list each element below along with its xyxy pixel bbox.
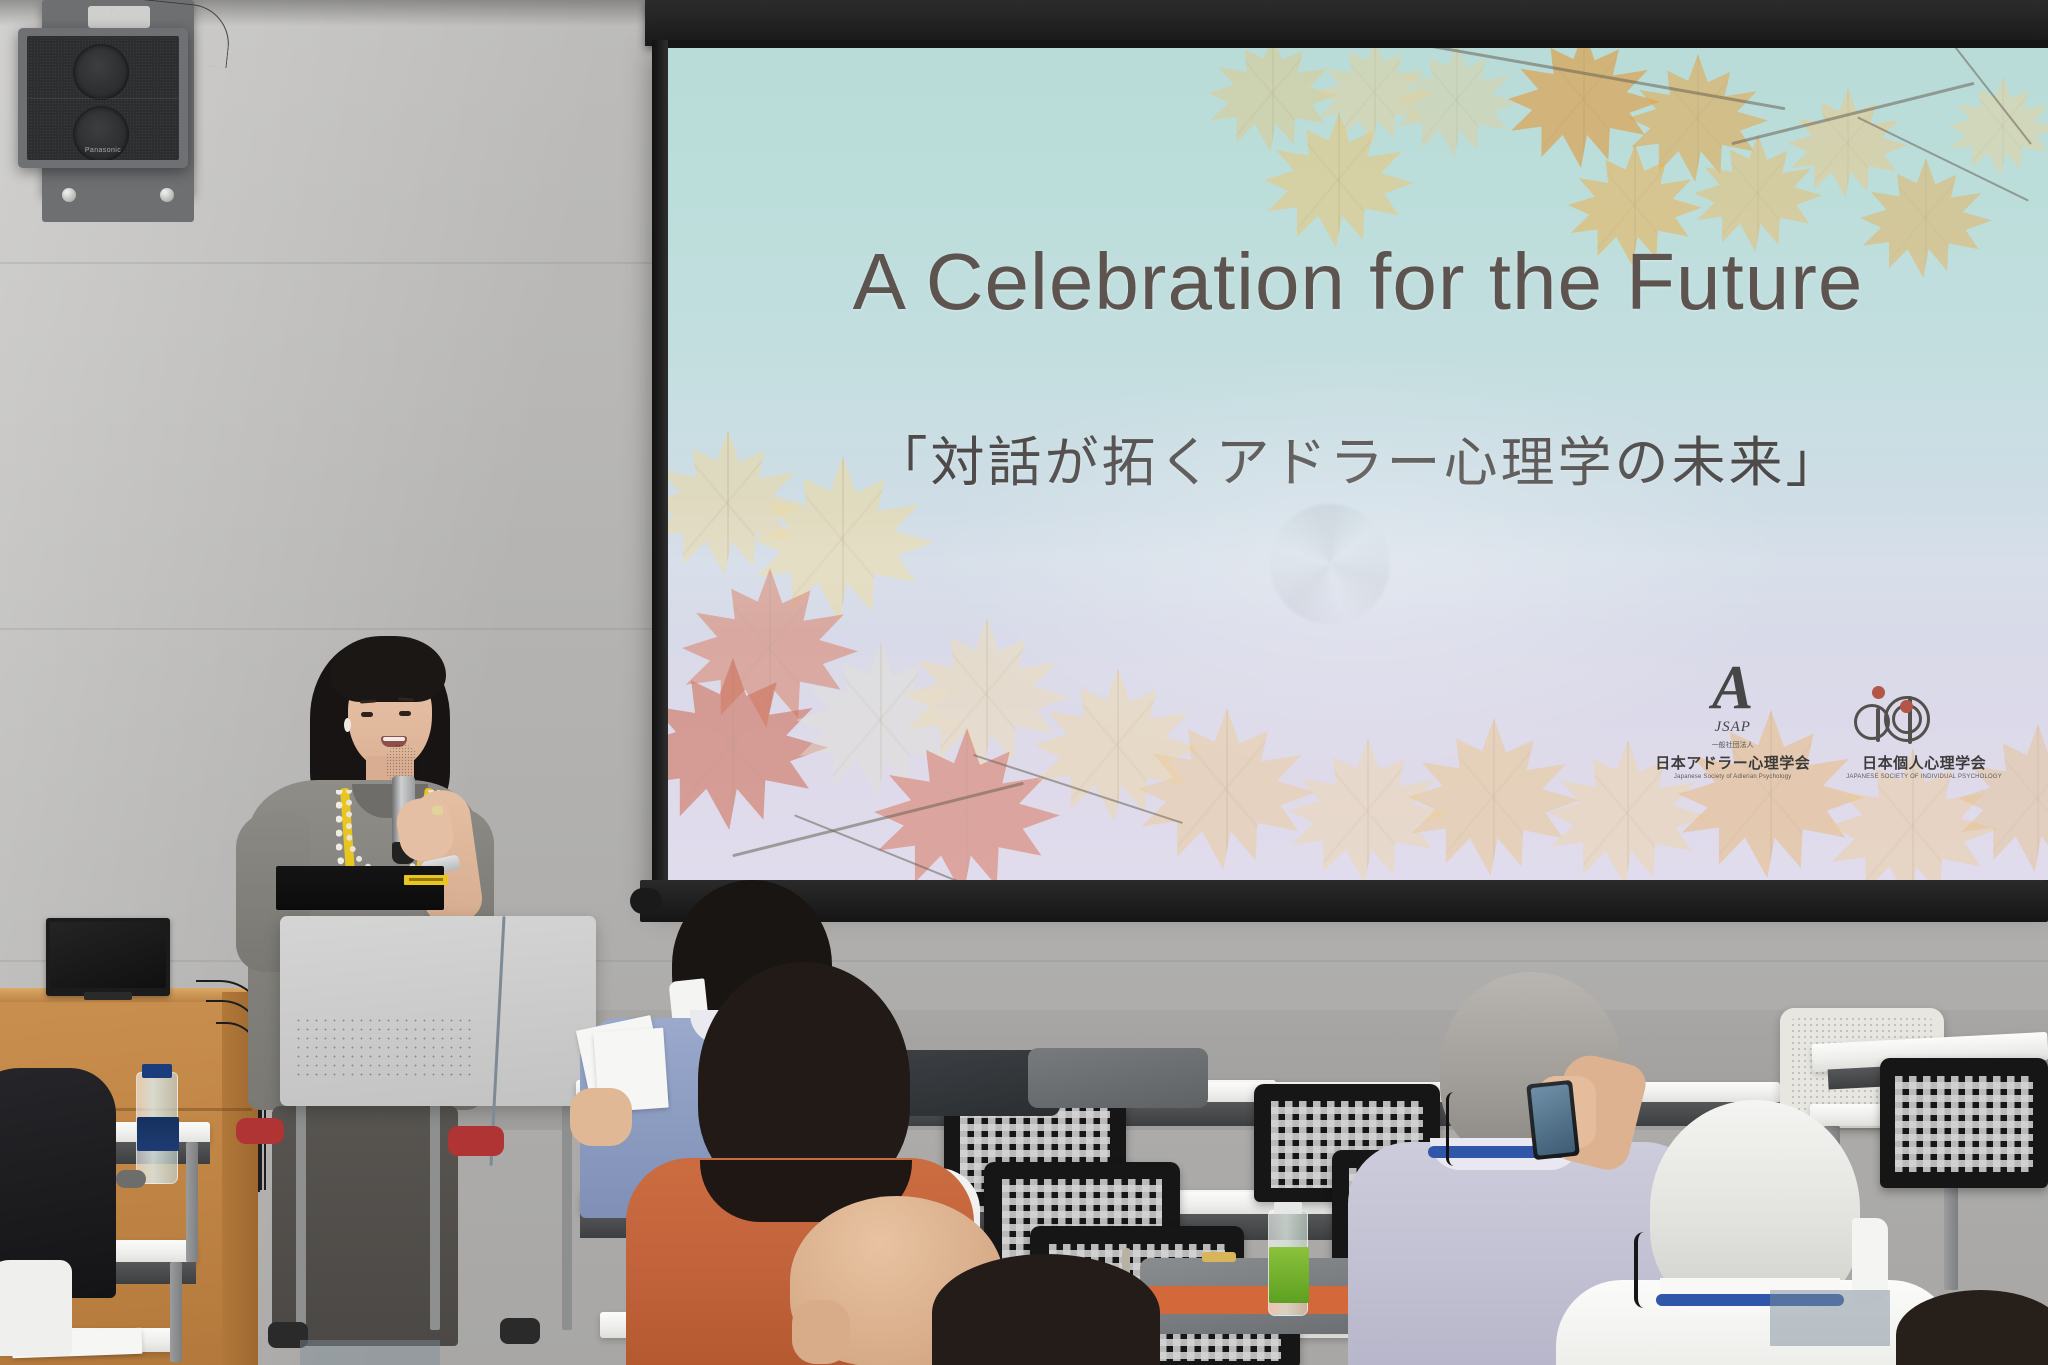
hand [570,1088,632,1146]
eyeglasses-temple-icon [1634,1232,1658,1308]
grille-divider [27,98,179,99]
presenter-eye-right [399,711,411,716]
jsap-name-jp: 日本アドラー心理学会 [1655,752,1810,773]
bag-orange-trim [1138,1286,1372,1314]
speaker-cabinet: Panasonic [18,28,188,168]
presenter-ring-icon [432,806,443,815]
bottle-label [137,1117,179,1151]
jsap-corporate-prefix: 一般社団法人 [1655,740,1810,750]
slide-subtitle: 「対話が拓くアドラー心理学の未来」 [668,418,2048,497]
foot-bolt [62,188,76,202]
jsap-a-mark-icon: A [1655,657,1810,719]
smartphone-icon[interactable] [1526,1080,1580,1160]
lectern-leg-left [296,1100,306,1330]
logo-jsip: 日本個人心理学会 JAPANESE SOCIETY OF INDIVIDUAL … [1846,686,2002,780]
jsip-spiral-mark-icon [1846,686,1942,748]
lectern-leg-right [562,1100,572,1330]
microphone-head-icon [386,744,418,780]
speaker-brand-label: Panasonic [85,147,121,154]
red-chair-seat [448,1126,504,1156]
lectern-caster-right [500,1318,540,1344]
foot-bolt [160,188,174,202]
red-chair-seat [236,1118,284,1144]
small-object-grey [116,1170,146,1188]
projected-slide: A Celebration for the Future 「対話が拓くアドラー心… [668,48,2048,880]
floor-carpet [1770,1290,1890,1346]
eyeglasses-temple-icon [1446,1092,1464,1166]
head-hair [932,1254,1160,1365]
jsap-letter-a: A [1712,657,1753,719]
jsap-abbrev: JSAP [1655,719,1810,736]
logo-jsap: A JSAP 一般社団法人 日本アドラー心理学会 Japanese Societ… [1655,657,1810,780]
lectern-panel[interactable] [280,916,596,1106]
monitor-screen [50,922,166,988]
jsip-name-jp: 日本個人心理学会 [1846,752,2002,773]
desk-leg [170,1262,182,1362]
jsip-name-en: JAPANESE SOCIETY OF INDIVIDUAL PSYCHOLOG… [1846,774,2002,780]
bag-tag [1202,1252,1236,1262]
speaker-grille: Panasonic [27,36,179,160]
jsap-name-en: Japanese Society of Adlerian Psychology [1655,774,1810,780]
water-bottle-left [136,1072,178,1184]
bottle-cap [142,1064,172,1078]
lectern-name-badge [404,875,448,885]
bottle-label-green [1269,1247,1309,1303]
bottle-cap [1274,1202,1302,1214]
lectern-leg-centre [430,1100,440,1330]
screen-weight-bar [640,880,2048,922]
ear [792,1300,850,1364]
presenter-eye-left [361,712,373,717]
speaker-driver-upper [73,44,129,100]
conference-photo-scene: Panasonic [0,0,2048,1365]
chair-mesh-texture [1895,1076,2033,1172]
phone-screen [1531,1084,1576,1156]
speaker-foot-bracket [42,168,194,222]
presenter-fringe [330,636,446,702]
slide-logos: A JSAP 一般社団法人 日本アドラー心理学会 Japanese Societ… [1655,657,2002,780]
presenter-earring-icon [344,718,351,732]
screen-fabric-crease [1270,504,1390,624]
lectern-top [276,866,444,910]
slide-title: A Celebration for the Future [668,236,2048,328]
lectern-perforation [294,1016,472,1082]
white-sleeve [0,1260,72,1356]
chair-back[interactable] [1880,1058,2048,1188]
screen-left-edge [652,40,668,885]
floor-carpet [300,1340,440,1365]
desk-leg [186,1142,198,1262]
screen-pull-knob[interactable] [630,888,662,914]
green-tea-bottle [1268,1210,1308,1316]
control-monitor [46,918,170,996]
monitor-stand [84,992,132,1000]
bag-grey [1028,1048,1208,1108]
